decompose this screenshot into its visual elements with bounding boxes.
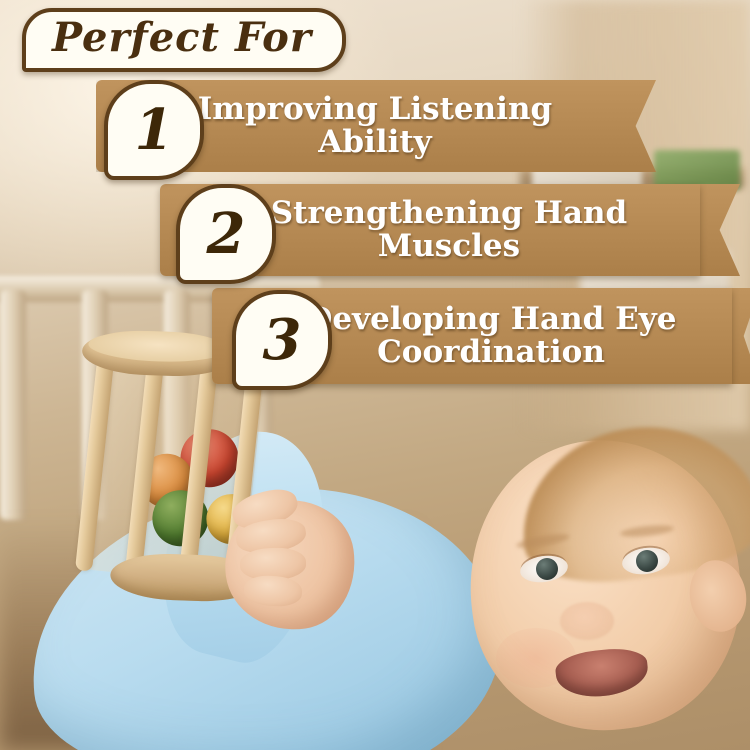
title-plate: Perfect For <box>22 8 346 72</box>
page-title: Perfect For <box>52 16 312 60</box>
benefit-number-badge-2: 2 <box>176 184 276 284</box>
benefit-number-1: 1 <box>135 102 174 158</box>
baby-nose <box>560 602 614 640</box>
benefit-number-badge-1: 1 <box>104 80 204 180</box>
baby-pupil-right <box>636 550 658 572</box>
toy-cap-top-face <box>88 329 229 364</box>
benefit-number-badge-3: 3 <box>232 290 332 390</box>
crib-rail-vertical <box>0 290 26 520</box>
benefit-number-2: 2 <box>207 206 246 262</box>
benefit-number-3: 3 <box>263 312 302 368</box>
product-benefit-graphic: Perfect For Improving Listening Ability … <box>0 0 750 750</box>
baby-pupil-left <box>536 558 558 580</box>
